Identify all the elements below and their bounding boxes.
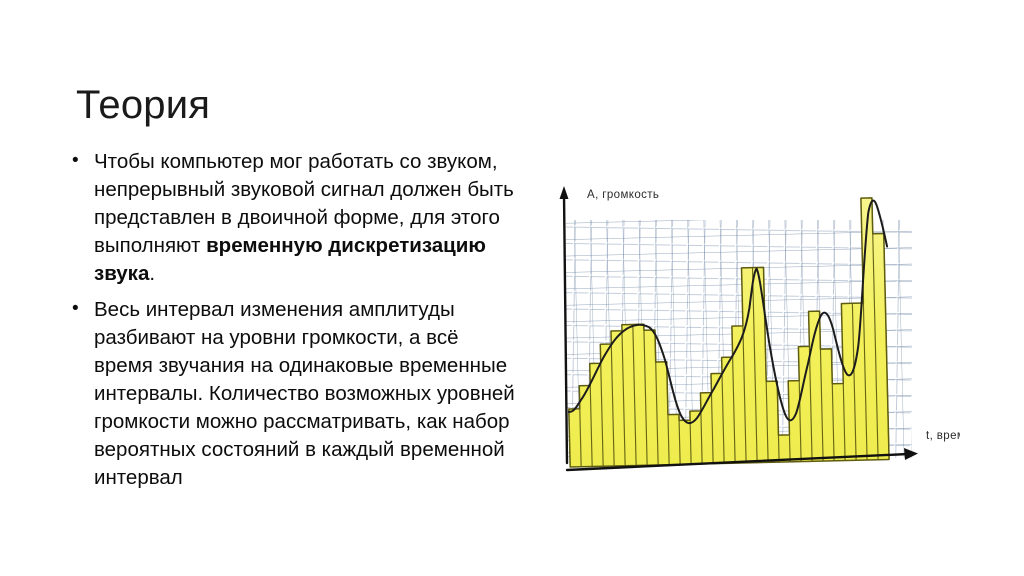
list-item: Весь интервал изменения амплитуды разбив… <box>68 296 520 492</box>
sound-sampling-diagram: А, громкость t, время <box>540 158 960 488</box>
list-item: Чтобы компьютер мог работать со звуком, … <box>68 148 520 288</box>
y-axis-arrow <box>560 186 569 199</box>
slide-canvas: Теория Чтобы компьютер мог работать со з… <box>0 0 1024 576</box>
x-axis-label: t, время <box>926 430 960 442</box>
bullet-text-plain-before: Весь интервал изменения амплитуды разбив… <box>94 298 515 489</box>
y-axis-label: А, громкость <box>587 189 659 201</box>
bullet-list: Чтобы компьютер мог работать со звуком, … <box>68 148 520 492</box>
bullet-text-plain-after: . <box>149 262 155 285</box>
page-title: Теория <box>76 83 210 127</box>
body-text-column: Чтобы компьютер мог работать со звуком, … <box>68 148 520 500</box>
